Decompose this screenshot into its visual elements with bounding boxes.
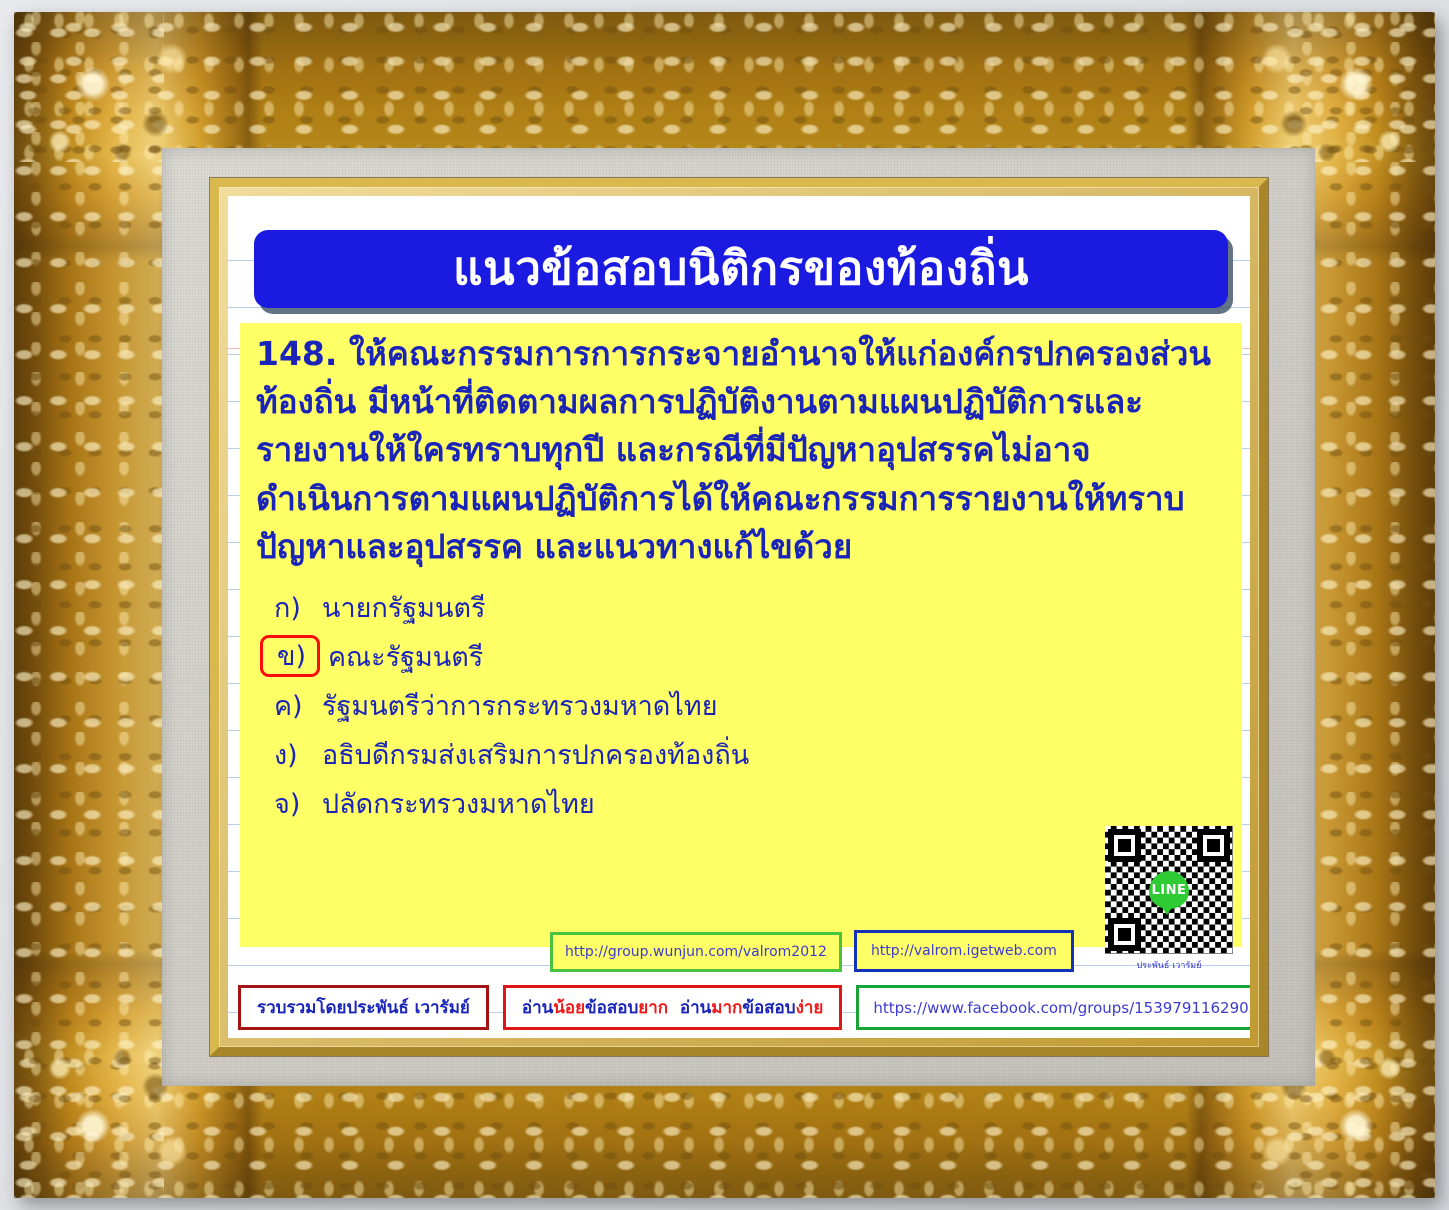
qr-finder-top-right — [1197, 829, 1230, 862]
slogan-box: อ่านน้อยข้อสอบยาก อ่านมากข้อสอบง่าย — [503, 985, 843, 1030]
qr-caption: ประพันธ์ เวารัมย์ — [1094, 958, 1244, 972]
inner-gold-fillet: แนวข้อสอบนิติกรของท้องถิ่น 148. ให้คณะกร… — [210, 178, 1268, 1056]
title-banner: แนวข้อสอบนิติกรของท้องถิ่น — [254, 230, 1228, 308]
answer-choice-list: ก) นายกรัฐมนตรี ข) คณะรัฐมนตรี ค) รัฐมนต… — [256, 583, 1226, 828]
slogan-part: น้อย — [553, 998, 585, 1018]
group-url-box[interactable]: http://group.wunjun.com/valrom2012 — [550, 932, 842, 972]
slogan-text: อ่านน้อยข้อสอบยาก อ่านมากข้อสอบง่าย — [522, 994, 824, 1021]
choice-key: ค) — [256, 684, 318, 727]
choice-label: คณะรัฐมนตรี — [320, 635, 483, 678]
framed-slide-photo: แนวข้อสอบนิติกรของท้องถิ่น 148. ให้คณะกร… — [0, 0, 1449, 1210]
choice-key: ง) — [256, 733, 318, 776]
author-credit-text: รวบรวมโดยประพันธ์ เวารัมย์ — [257, 994, 470, 1021]
title-banner-wrapper: แนวข้อสอบนิติกรของท้องถิ่น — [254, 230, 1228, 308]
slogan-part: ข้อสอบ — [585, 998, 638, 1018]
slogan-part: มาก — [711, 998, 742, 1018]
question-line: ปัญหาและอุปสรรค และแนวทางแก้ไขด้วย — [256, 523, 1226, 571]
question-line: รายงานให้ใครทราบทุกปี และกรณีที่มีปัญหาอ… — [256, 426, 1226, 474]
choice-key: ก) — [256, 586, 318, 629]
slogan-part: ยาก — [638, 998, 668, 1018]
choice-key: จ) — [256, 782, 318, 825]
gold-picture-frame: แนวข้อสอบนิติกรของท้องถิ่น 148. ให้คณะกร… — [14, 12, 1435, 1198]
qr-code-image[interactable]: LINE — [1105, 826, 1233, 954]
website-url-box[interactable]: http://valrom.igetweb.com — [854, 930, 1074, 972]
page-title: แนวข้อสอบนิติกรของท้องถิ่น — [264, 241, 1218, 295]
slide-content: แนวข้อสอบนิติกรของท้องถิ่น 148. ให้คณะกร… — [228, 196, 1250, 1038]
line-logo-icon: LINE — [1149, 871, 1189, 909]
question-line: 148. ให้คณะกรรมการการกระจายอำนาจให้แก่อง… — [256, 330, 1226, 378]
answer-choice-ko[interactable]: ก) นายกรัฐมนตรี — [256, 583, 1226, 632]
question-panel: 148. ให้คณะกรรมการการกระจายอำนาจให้แก่อง… — [240, 323, 1242, 947]
slogan-part: ง่าย — [796, 998, 824, 1018]
choice-key-highlighted: ข) — [260, 635, 320, 677]
credit-row: รวบรวมโดยประพันธ์ เวารัมย์ อ่านน้อยข้อสอ… — [238, 985, 1242, 1030]
choice-label: รัฐมนตรีว่าการกระทรวงมหาดไทย — [318, 684, 718, 727]
group-url-text: http://group.wunjun.com/valrom2012 — [565, 944, 827, 960]
answer-choice-ngo[interactable]: ง) อธิบดีกรมส่งเสริมการปกครองท้องถิ่น — [256, 730, 1226, 779]
answer-choice-kho[interactable]: ข) คณะรัฐมนตรี — [256, 632, 1226, 681]
url-box-row: http://group.wunjun.com/valrom2012 http:… — [550, 930, 1074, 972]
qr-finder-top-left — [1108, 829, 1141, 862]
answer-choice-kho-khwai[interactable]: ค) รัฐมนตรีว่าการกระทรวงมหาดไทย — [256, 681, 1226, 730]
line-qr-block[interactable]: LINE ประพันธ์ เวารัมย์ — [1094, 826, 1244, 972]
ruled-paper-page: แนวข้อสอบนิติกรของท้องถิ่น 148. ให้คณะกร… — [228, 196, 1250, 1038]
linen-mat-board: แนวข้อสอบนิติกรของท้องถิ่น 148. ให้คณะกร… — [162, 148, 1315, 1086]
facebook-url-box[interactable]: https://www.facebook.com/groups/15397911… — [856, 985, 1250, 1030]
question-line: ดำเนินการตามแผนปฏิบัติการได้ให้คณะกรรมกา… — [256, 475, 1226, 523]
author-credit-box: รวบรวมโดยประพันธ์ เวารัมย์ — [238, 985, 489, 1030]
choice-label: อธิบดีกรมส่งเสริมการปกครองท้องถิ่น — [318, 733, 749, 776]
slogan-part: อ่าน — [668, 998, 711, 1018]
slogan-part: ข้อสอบ — [742, 998, 795, 1018]
qr-finder-bottom-left — [1108, 918, 1141, 951]
website-url-text: http://valrom.igetweb.com — [871, 943, 1057, 959]
slogan-part: อ่าน — [522, 998, 553, 1018]
choice-label: นายกรัฐมนตรี — [318, 586, 485, 629]
facebook-url-text: https://www.facebook.com/groups/15397911… — [873, 999, 1250, 1017]
choice-label: ปลัดกระทรวงมหาดไทย — [318, 782, 595, 825]
answer-choice-cho[interactable]: จ) ปลัดกระทรวงมหาดไทย — [256, 779, 1226, 828]
question-text: 148. ให้คณะกรรมการการกระจายอำนาจให้แก่อง… — [256, 330, 1226, 571]
question-line: ท้องถิ่น มีหน้าที่ติดตามผลการปฏิบัติงานต… — [256, 378, 1226, 426]
